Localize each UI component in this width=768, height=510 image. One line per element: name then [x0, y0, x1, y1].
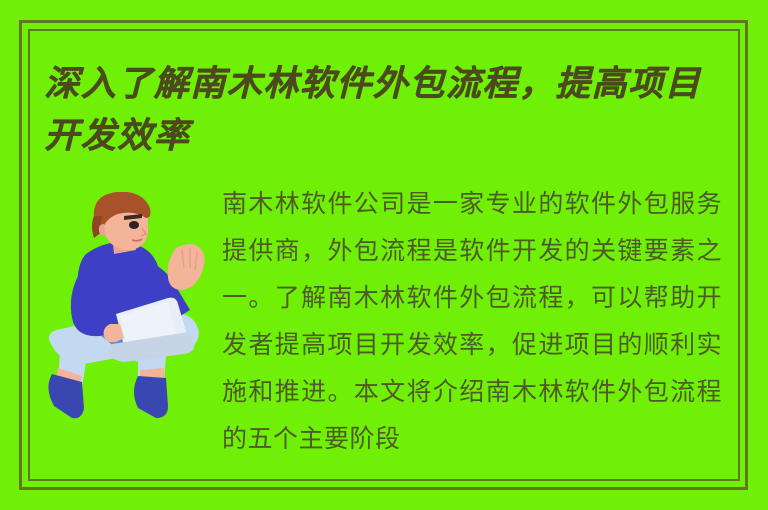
- article-body-text: 南木林软件公司是一家专业的软件外包服务提供商，外包流程是软件开发的关键要素之一。…: [222, 180, 722, 462]
- poster-canvas: 深入了解南木林软件外包流程，提高项目开发效率 南木林软件公司是一家专业的软件外包…: [0, 0, 768, 510]
- person-with-laptop-illustration: [42, 192, 222, 422]
- hand-waving-icon: [168, 244, 205, 290]
- page-title: 深入了解南木林软件外包流程，提高项目开发效率: [44, 58, 734, 162]
- shoe-right-icon: [134, 376, 168, 418]
- eye-icon: [129, 221, 139, 229]
